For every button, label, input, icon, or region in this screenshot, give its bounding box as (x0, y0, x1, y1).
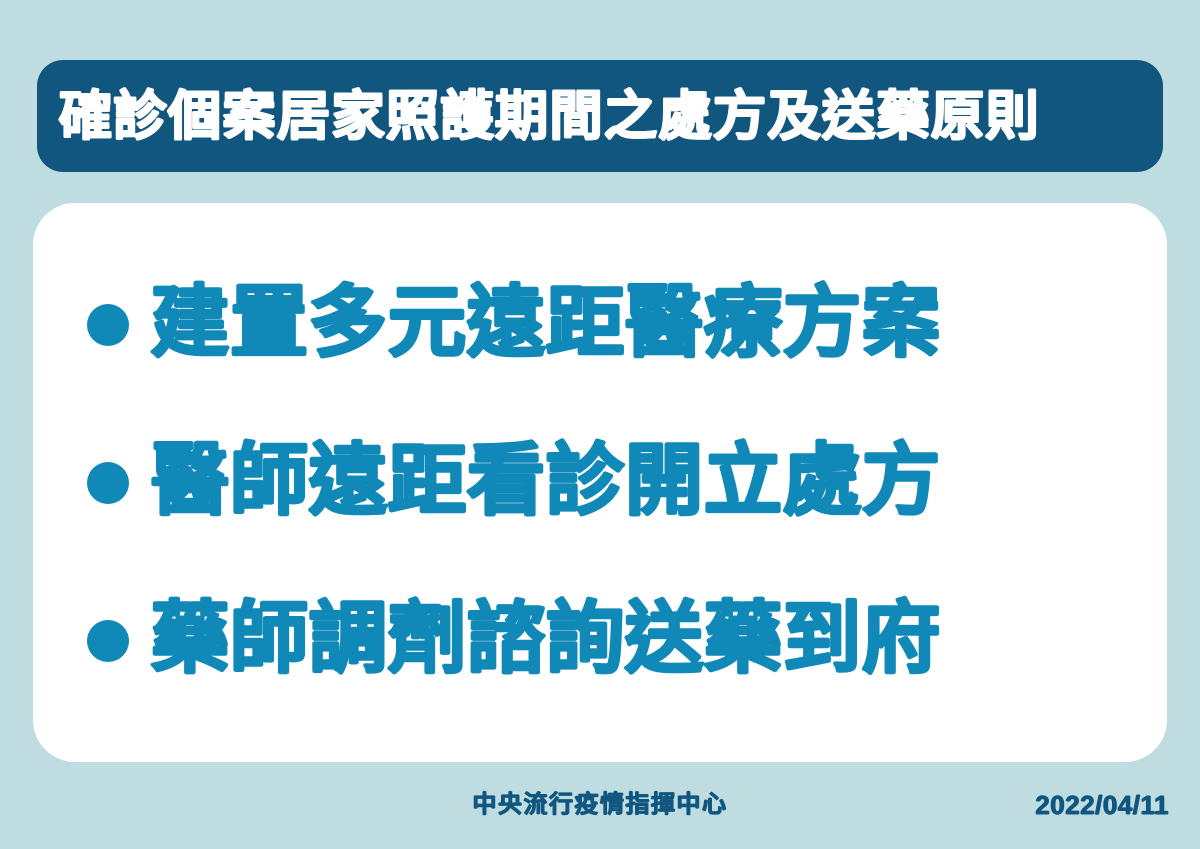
publication-date: 2022/04/11 (1035, 783, 1169, 827)
issuing-organization: 中央流行疫情指揮中心 (0, 783, 1200, 827)
bullet-dot-icon (87, 620, 129, 662)
list-item: 醫師遠距看診開立處方 (33, 401, 1167, 559)
list-item: 建置多元遠距醫療方案 (33, 243, 1167, 401)
bullet-item-label: 建置多元遠距醫療方案 (151, 283, 941, 361)
bullet-dot-icon (87, 462, 129, 504)
title-banner: 確診個案居家照護期間之處方及送藥原則 (37, 60, 1163, 172)
list-item: 藥師調劑諮詢送藥到府 (33, 559, 1167, 717)
page-title: 確診個案居家照護期間之處方及送藥原則 (59, 90, 1040, 143)
footer: 中央流行疫情指揮中心 2022/04/11 (0, 783, 1200, 827)
content-card: 建置多元遠距醫療方案 醫師遠距看診開立處方 藥師調劑諮詢送藥到府 (33, 203, 1167, 762)
bullet-item-label: 醫師遠距看診開立處方 (151, 441, 941, 519)
bullet-dot-icon (87, 304, 129, 346)
bullet-item-label: 藥師調劑諮詢送藥到府 (151, 599, 941, 677)
poster-root: 確診個案居家照護期間之處方及送藥原則 建置多元遠距醫療方案 醫師遠距看診開立處方… (0, 0, 1200, 849)
